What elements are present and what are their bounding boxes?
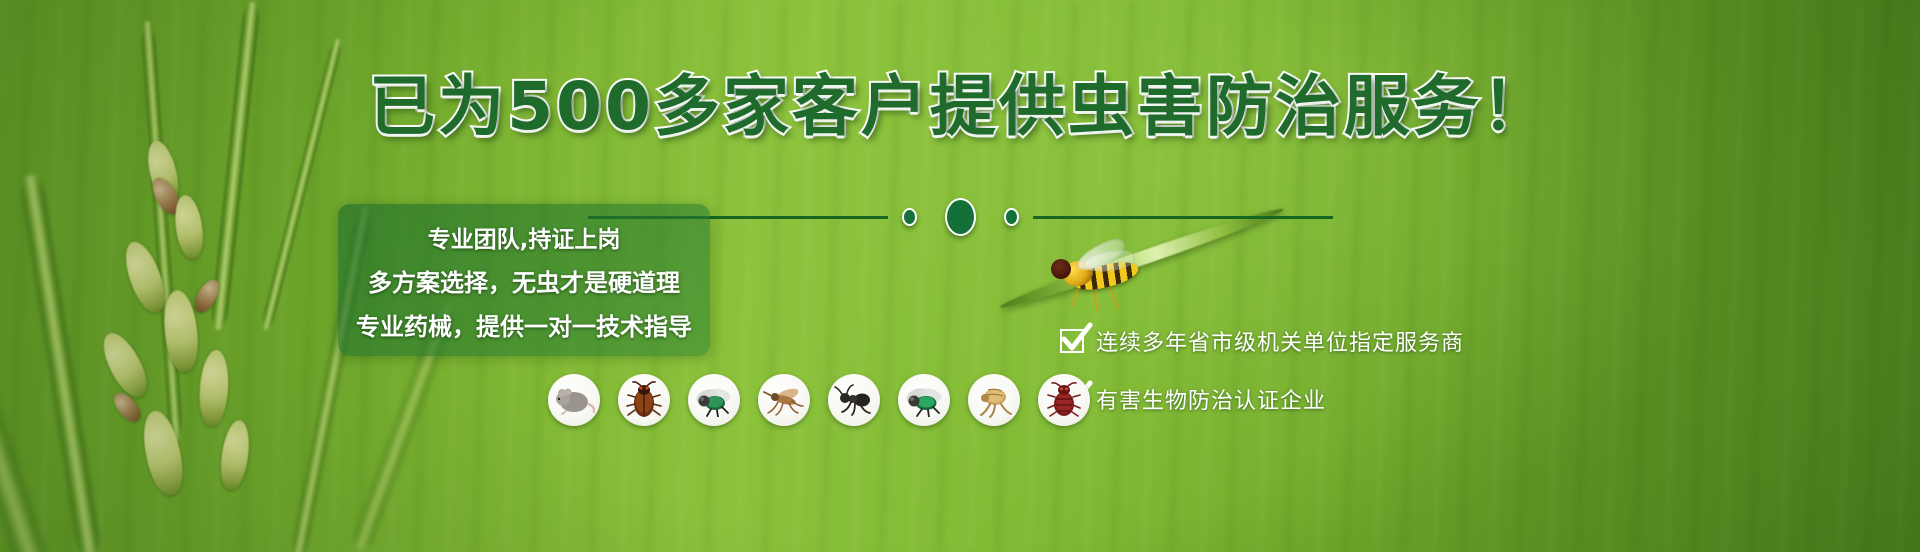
highlight-line-3: 专业药械，提供一对一技术指导 <box>354 307 694 342</box>
checkbox-checked-icon <box>1060 329 1084 353</box>
divider-dot-left <box>902 208 917 226</box>
credential-label-1: 连续多年省市级机关单位指定服务商 <box>1096 325 1464 357</box>
greenbottle-fly-icon[interactable] <box>898 374 950 426</box>
rodent-icon[interactable] <box>548 374 600 426</box>
credential-item-2: 有害生物防治认证企业 <box>1060 383 1464 415</box>
decorative-divider <box>0 198 1920 236</box>
divider-dot-center <box>945 198 976 236</box>
fly-icon[interactable] <box>688 374 740 426</box>
ant-icon[interactable] <box>828 374 880 426</box>
credential-item-1: 连续多年省市级机关单位指定服务商 <box>1060 325 1464 357</box>
pest-type-strip <box>548 374 1090 426</box>
highlight-line-2: 多方案选择，无虫才是硬道理 <box>354 263 694 298</box>
divider-line-right <box>1033 216 1333 219</box>
credentials-list: 连续多年省市级机关单位指定服务商 有害生物防治认证企业 <box>1060 325 1464 441</box>
highlights-panel: 专业团队,持证上岗 多方案选择，无虫才是硬道理 专业药械，提供一对一技术指导 <box>338 204 710 356</box>
banner-headline: 已为500多家客户提供虫害防治服务！ <box>0 72 1920 142</box>
promo-banner: 已为500多家客户提供虫害防治服务！ 专业团队,持证上岗 多方案选择，无虫才是硬… <box>0 0 1920 552</box>
bedbug-icon[interactable] <box>1038 374 1090 426</box>
cockroach-icon[interactable] <box>618 374 670 426</box>
flea-icon[interactable] <box>968 374 1020 426</box>
highlight-line-1: 专业团队,持证上岗 <box>354 220 694 254</box>
mosquito-icon[interactable] <box>758 374 810 426</box>
credential-label-2: 有害生物防治认证企业 <box>1096 383 1326 415</box>
divider-dot-right <box>1004 208 1019 226</box>
